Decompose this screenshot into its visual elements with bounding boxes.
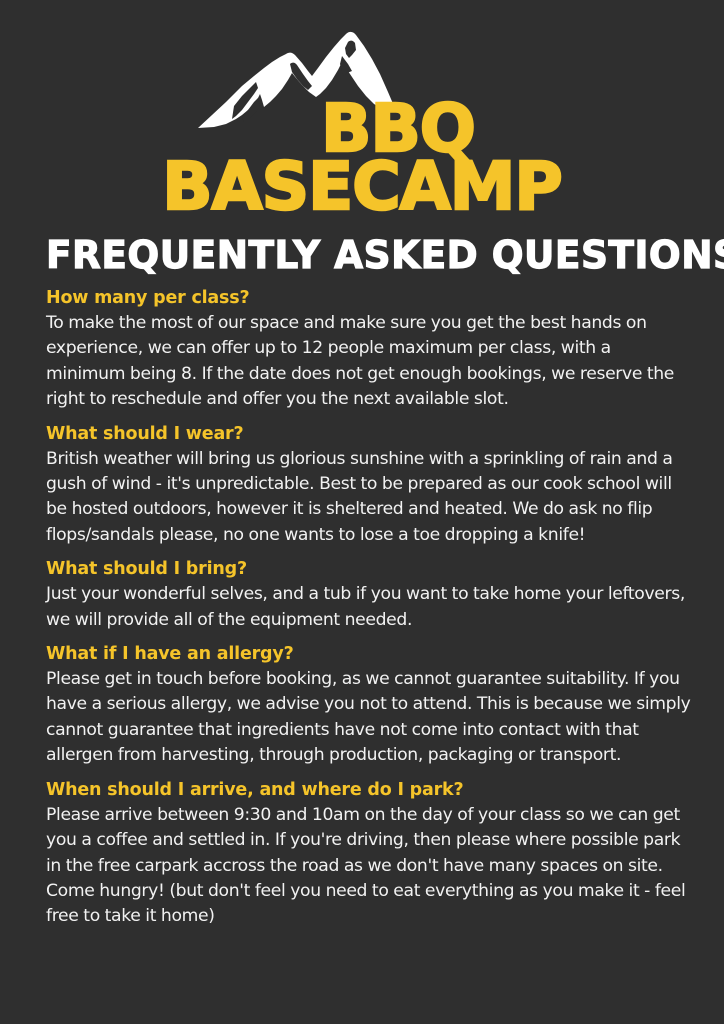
faq-question: How many per class? (46, 286, 694, 311)
faq-question: What if I have an allergy? (46, 642, 694, 667)
faq-answer: British weather will bring us glorious s… (46, 447, 694, 549)
faq-item: What should I bring? Just your wonderful… (46, 557, 694, 633)
brand-line-basecamp: BASECAMP (0, 154, 724, 220)
faq-question: What should I wear? (46, 422, 694, 447)
faq-answer: Please get in touch before booking, as w… (46, 667, 694, 769)
faq-answer: To make the most of our space and make s… (46, 311, 694, 413)
faq-poster: BBQ BASECAMP FREQUENTLY ASKED QUESTIONS … (0, 0, 724, 1024)
page-title: FREQUENTLY ASKED QUESTIONS (46, 232, 684, 278)
brand-header: BBQ BASECAMP (0, 0, 724, 232)
faq-answer: Just your wonderful selves, and a tub if… (46, 582, 694, 633)
faq-item: What should I wear? British weather will… (46, 422, 694, 549)
faq-answer: Please arrive between 9:30 and 10am on t… (46, 803, 694, 930)
faq-question: When should I arrive, and where do I par… (46, 778, 694, 803)
faq-item: When should I arrive, and where do I par… (46, 778, 694, 930)
faq-item: What if I have an allergy? Please get in… (46, 642, 694, 769)
faq-list: How many per class? To make the most of … (46, 286, 694, 1024)
faq-item: How many per class? To make the most of … (46, 286, 694, 413)
faq-question: What should I bring? (46, 557, 694, 582)
